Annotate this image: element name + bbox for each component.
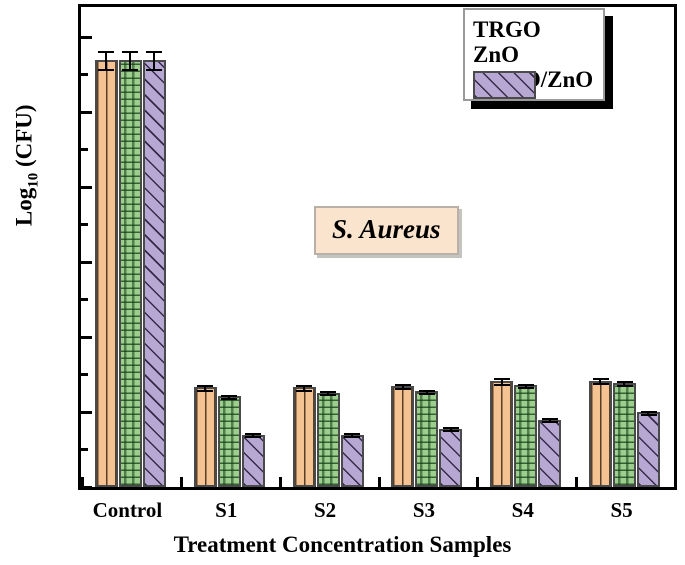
y-axis-tick-minor (81, 373, 88, 376)
y-axis-tick-major (81, 411, 92, 414)
error-bar-cap (494, 384, 510, 386)
error-bar-cap (344, 436, 360, 438)
error-bar-cap (320, 391, 336, 393)
error-bar-cap (641, 411, 657, 413)
error-bar-cap (443, 430, 459, 432)
error-bar (153, 51, 155, 69)
error-bar-cap (344, 433, 360, 435)
error-bar (129, 51, 131, 69)
bar-zno-control (119, 60, 142, 487)
error-bar-cap (542, 421, 558, 423)
legend-label-zno: ZnO (473, 43, 519, 66)
error-bar (105, 51, 107, 69)
bar-zno-s2 (317, 393, 340, 488)
figure: Log10 (CFU) 0123456 S. Aureus TRGO ZnO T… (0, 0, 685, 565)
legend: TRGO ZnO TRGO/ZnO (463, 8, 605, 101)
y-axis-tick-major (81, 261, 92, 264)
error-bar-cap (146, 69, 162, 71)
y-axis-tick-minor (81, 148, 88, 151)
y-axis-title-rest: (CFU) (12, 104, 37, 172)
error-bar-cap (296, 390, 312, 392)
bar-zno-s3 (415, 391, 438, 487)
y-axis-tick-minor (81, 73, 88, 76)
x-axis-tick (476, 477, 479, 487)
bar-trgo-s4 (490, 381, 513, 487)
error-bar-cap (443, 427, 459, 429)
error-bar-cap (542, 418, 558, 420)
y-axis-tick-minor (81, 448, 88, 451)
legend-label-trgo: TRGO (473, 18, 541, 41)
error-bar-cap (419, 393, 435, 395)
y-axis-tick-major (81, 111, 92, 114)
legend-item-trgo[interactable]: TRGO (473, 18, 593, 41)
error-bar-cap (617, 381, 633, 383)
x-axis-tick (279, 477, 282, 487)
y-axis-tick-major (81, 186, 92, 189)
legend-item-zno[interactable]: ZnO (473, 43, 593, 66)
bar-trgo-s2 (293, 387, 316, 487)
error-bar-cap (320, 394, 336, 396)
error-bar-cap (221, 395, 237, 397)
x-axis-tick (575, 477, 578, 487)
error-bar-cap (146, 51, 162, 53)
error-bar-cap (617, 385, 633, 387)
y-axis-title-subscript: 10 (25, 173, 41, 188)
y-axis-tick-major (81, 336, 92, 339)
y-axis-tick-major (81, 36, 92, 39)
error-bar-cap (395, 384, 411, 386)
error-bar-cap (518, 384, 534, 386)
error-bar-cap (122, 69, 138, 71)
error-bar-cap (98, 69, 114, 71)
error-bar-cap (641, 414, 657, 416)
bar-zno-s1 (218, 396, 241, 487)
x-axis-category-label: S5 (562, 498, 682, 523)
x-axis-tick (180, 477, 183, 487)
x-axis-title: Treatment Concentration Samples (0, 532, 685, 558)
y-axis-tick-minor (81, 298, 88, 301)
bar-trgo-s3 (391, 386, 414, 487)
legend-item-trgo-zno[interactable]: TRGO/ZnO (473, 68, 593, 91)
bar-trgo-zno-s1 (242, 435, 265, 488)
error-bar-cap (245, 436, 261, 438)
error-bar-cap (518, 387, 534, 389)
x-axis-tick (378, 477, 381, 487)
x-axis-tick (81, 477, 84, 487)
error-bar-cap (197, 390, 213, 392)
error-bar-cap (98, 51, 114, 53)
error-bar-cap (395, 388, 411, 390)
bar-trgo-zno-s4 (538, 420, 561, 488)
bar-zno-s4 (514, 385, 537, 487)
y-axis-tick-minor (81, 223, 88, 226)
y-axis-title: Log10 (CFU) (12, 60, 43, 270)
error-bar-cap (419, 390, 435, 392)
error-bar-cap (245, 433, 261, 435)
legend-swatch-trgo-zno (473, 71, 536, 99)
error-bar-cap (593, 378, 609, 380)
error-bar-cap (221, 398, 237, 400)
error-bar-cap (593, 383, 609, 385)
error-bar-cap (197, 385, 213, 387)
y-axis-title-base: Log (12, 188, 37, 226)
bar-zno-s5 (613, 383, 636, 487)
bar-trgo-s5 (589, 381, 612, 488)
bar-trgo-zno-control (143, 60, 166, 487)
bar-trgo-zno-s2 (341, 435, 364, 488)
bar-trgo-s1 (194, 387, 217, 487)
error-bar-cap (494, 378, 510, 380)
error-bar-cap (122, 51, 138, 53)
bar-trgo-zno-s3 (439, 429, 462, 488)
error-bar-cap (296, 385, 312, 387)
bar-trgo-zno-s5 (637, 412, 660, 487)
bar-trgo-control (95, 60, 118, 488)
species-annotation: S. Aureus (314, 206, 459, 255)
